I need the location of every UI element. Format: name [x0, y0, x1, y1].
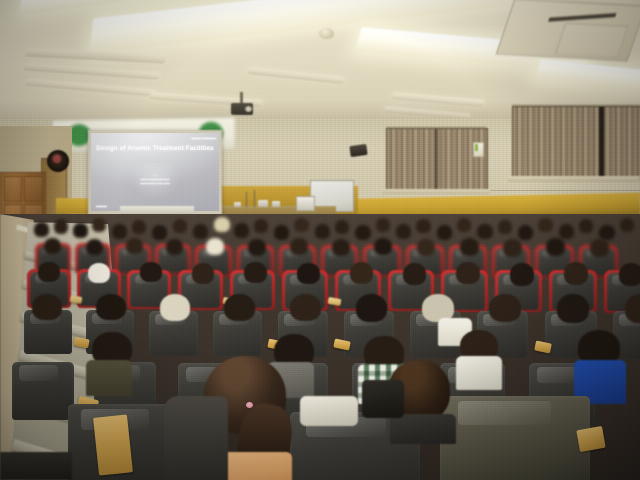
foreground-audience-member: [164, 396, 228, 480]
fluorescent-light-icon: [25, 79, 155, 97]
wreath-decoration-icon: [47, 150, 69, 172]
dome-detector-icon: [319, 28, 334, 39]
photo-canvas: ▬▬▬▬ ▬▬▬▬: [0, 0, 640, 480]
microphone-stand: [246, 192, 247, 207]
auditorium-seat[interactable]: [440, 396, 590, 480]
seat-writing-tablet[interactable]: [576, 426, 605, 452]
auditorium-seat[interactable]: [12, 362, 74, 420]
wall-speaker: [349, 144, 367, 157]
slide-subtitle-3: ▬▬▬▬▬ ▬▬ ▬▬: [91, 182, 219, 186]
seat-edge: [0, 452, 72, 480]
ac-vent-icon: [496, 0, 640, 61]
seat-writing-tablet[interactable]: [93, 414, 133, 475]
projection-screen: Design of Arsenic Treatment Facilities •…: [91, 133, 219, 211]
fluorescent-light-icon: [23, 63, 160, 79]
fluorescent-light-icon: [536, 59, 640, 92]
wall-mounted-sign: [473, 142, 484, 157]
fluorescent-light-icon: [247, 67, 345, 84]
pink-hair-tie: [246, 402, 253, 408]
microphone-stand: [254, 190, 255, 207]
slide-title: Design of Arsenic Treatment Facilities: [91, 145, 219, 152]
slide-logo-top-right: ▬▬▬ ▬▬▬▬: [191, 136, 216, 140]
window-curtain-left: [386, 128, 488, 192]
white-garment: [300, 396, 358, 426]
window-sill: [382, 189, 490, 194]
handbag: [362, 380, 404, 418]
window-sill: [508, 176, 640, 182]
window-curtain-right: [512, 106, 640, 180]
